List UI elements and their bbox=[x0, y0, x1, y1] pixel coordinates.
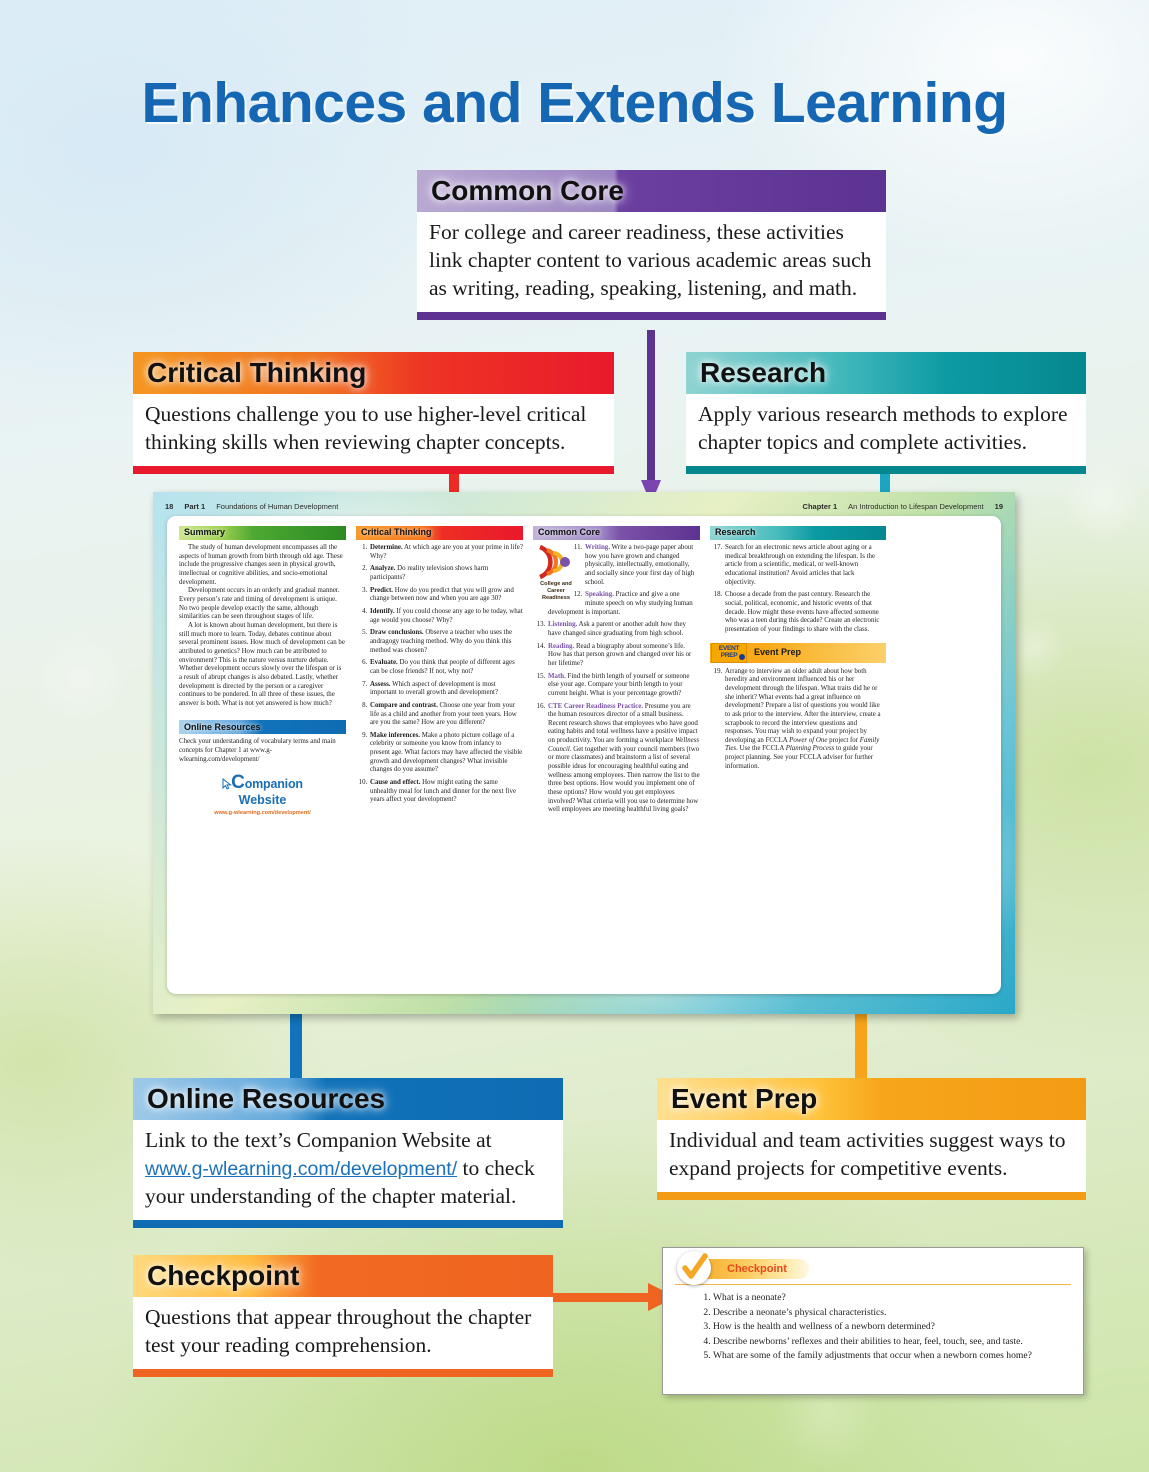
callout-checkpoint-label: Checkpoint bbox=[133, 1260, 313, 1292]
college-career-readiness-badge: College and Career Readiness bbox=[533, 545, 579, 601]
critical-thinking-item: Draw conclusions. Observe a teacher who … bbox=[369, 629, 523, 655]
column-common-core: Common Core College and Career Readiness… bbox=[533, 526, 700, 984]
callout-online-resources-label: Online Resources bbox=[133, 1083, 399, 1115]
column-research: Research Search for an electronic news a… bbox=[710, 526, 886, 984]
right-chapter-label: Chapter 1 bbox=[803, 502, 838, 511]
common-core-item-term: Writing. bbox=[585, 544, 610, 551]
callout-checkpoint-body: Questions that appear throughout the cha… bbox=[133, 1297, 553, 1369]
checkpoint-sample-item: Describe newborns’ reflexes and their ab… bbox=[713, 1335, 1071, 1349]
checkpoint-sample-item: How is the health and wellness of a newb… bbox=[713, 1320, 1071, 1334]
section-header-common-core-label: Common Core bbox=[533, 527, 605, 538]
checkpoint-sample-box: Checkpoint What is a neonate?Describe a … bbox=[662, 1247, 1084, 1395]
event-prep-logo-icon: EVENT PREP bbox=[711, 643, 747, 663]
companion-website-link[interactable]: www.g-wlearning.com/development/ bbox=[145, 1158, 457, 1180]
callout-common-core: Common Core For college and career readi… bbox=[417, 170, 886, 320]
common-core-item-text: Presume you are the human resources dire… bbox=[548, 703, 700, 814]
section-header-summary: Summary bbox=[179, 526, 346, 540]
critical-thinking-item-lead: Cause and effect. bbox=[370, 779, 420, 786]
callout-event-prep-header: Event Prep bbox=[657, 1078, 1086, 1120]
common-core-item-term: Math. bbox=[548, 673, 566, 680]
event-prep-question-list: Arrange to interview an older adult abou… bbox=[710, 668, 886, 772]
callout-online-resources-text-1: Link to the text’s Companion Website at bbox=[145, 1128, 492, 1152]
critical-thinking-item-lead: Evaluate. bbox=[370, 659, 398, 666]
section-header-critical-thinking: Critical Thinking bbox=[356, 526, 523, 540]
left-page-number: 18 bbox=[165, 502, 173, 511]
callout-checkpoint: Checkpoint Questions that appear through… bbox=[133, 1255, 553, 1377]
common-core-item-term: Reading. bbox=[548, 643, 574, 650]
section-header-event-prep: EVENT PREP Event Prep bbox=[710, 643, 886, 663]
checkpoint-sample-item: What are some of the family adjustments … bbox=[713, 1349, 1071, 1363]
callout-checkpoint-footer-bar bbox=[133, 1369, 553, 1377]
callout-event-prep: Event Prep Individual and team activitie… bbox=[657, 1078, 1086, 1200]
spread-paper: Summary The study of human development e… bbox=[167, 516, 1001, 994]
checkmark-icon bbox=[677, 1251, 711, 1285]
companion-website-line1: Companion bbox=[179, 771, 346, 795]
callout-common-core-footer-bar bbox=[417, 312, 886, 320]
checkpoint-sample-item: What is a neonate? bbox=[713, 1291, 1071, 1305]
checkpoint-sample-label: Checkpoint bbox=[727, 1263, 787, 1275]
cursor-arrow-icon bbox=[222, 778, 233, 795]
critical-thinking-item-text: Which aspect of development is most impo… bbox=[370, 681, 498, 697]
common-core-item: Math. Find the birth length of yourself … bbox=[547, 673, 700, 699]
research-item: Search for an electronic news article ab… bbox=[724, 544, 886, 587]
section-header-summary-label: Summary bbox=[179, 527, 230, 538]
section-header-research-label: Research bbox=[710, 527, 761, 538]
callout-common-core-label: Common Core bbox=[417, 175, 638, 207]
critical-thinking-item-lead: Make inferences. bbox=[370, 732, 420, 739]
critical-thinking-item: Assess. Which aspect of development is m… bbox=[369, 681, 523, 698]
companion-website-word: ompanion bbox=[245, 777, 303, 791]
callout-event-prep-body: Individual and team activities suggest w… bbox=[657, 1120, 1086, 1192]
callout-critical-thinking: Critical Thinking Questions challenge yo… bbox=[133, 352, 614, 474]
summary-paragraph: A lot is known about human development, … bbox=[179, 622, 346, 709]
critical-thinking-item: Analyze. Do reality television shows har… bbox=[369, 565, 523, 582]
arrow-checkpoint bbox=[548, 1283, 678, 1311]
callout-critical-thinking-footer-bar bbox=[133, 466, 614, 474]
event-prep-logo-line2: PREP bbox=[721, 653, 738, 659]
checkpoint-sample-divider bbox=[675, 1284, 1071, 1285]
section-header-common-core: Common Core bbox=[533, 526, 700, 540]
companion-website-initial: C bbox=[231, 772, 245, 793]
critical-thinking-item: Predict. How do you predict that you wil… bbox=[369, 587, 523, 604]
critical-thinking-item: Evaluate. Do you think that people of di… bbox=[369, 659, 523, 676]
checkpoint-sample-question-list: What is a neonate?Describe a neonate’s p… bbox=[675, 1291, 1071, 1363]
callout-checkpoint-header: Checkpoint bbox=[133, 1255, 553, 1297]
common-core-item: Reading. Read a biography about someone’… bbox=[547, 643, 700, 669]
column-summary: Summary The study of human development e… bbox=[179, 526, 346, 984]
critical-thinking-item-lead: Determine. bbox=[370, 544, 403, 551]
arrow-common-core bbox=[641, 330, 661, 510]
critical-thinking-item-lead: Analyze. bbox=[370, 565, 395, 572]
callout-research-body: Apply various research methods to explor… bbox=[686, 394, 1086, 466]
critical-thinking-item-lead: Compare and contrast. bbox=[370, 702, 438, 709]
right-page-number: 19 bbox=[995, 502, 1003, 511]
section-header-research: Research bbox=[710, 526, 886, 540]
research-question-list: Search for an electronic news article ab… bbox=[710, 544, 886, 635]
event-prep-item: Arrange to interview an older adult abou… bbox=[724, 668, 886, 772]
section-header-event-prep-label: Event Prep bbox=[754, 647, 801, 658]
ccr-caption: College and Career Readiness bbox=[533, 581, 579, 601]
callout-critical-thinking-header: Critical Thinking bbox=[133, 352, 614, 394]
callout-common-core-header: Common Core bbox=[417, 170, 886, 212]
common-core-item-term: Speaking. bbox=[585, 591, 614, 598]
ccr-rings-icon bbox=[534, 545, 578, 579]
callout-research-footer-bar bbox=[686, 466, 1086, 474]
callout-online-resources-footer-bar bbox=[133, 1220, 563, 1228]
critical-thinking-item: Make inferences. Make a photo picture co… bbox=[369, 732, 523, 775]
common-core-item: Listening. Ask a parent or another adult… bbox=[547, 621, 700, 638]
critical-thinking-item: Identify. If you could choose any age to… bbox=[369, 608, 523, 625]
common-core-item: CTE Career Readiness Practice. Presume y… bbox=[547, 703, 700, 816]
callout-research-header: Research bbox=[686, 352, 1086, 394]
checkpoint-sample-item: Describe a neonate’s physical characteri… bbox=[713, 1306, 1071, 1320]
critical-thinking-item-lead: Identify. bbox=[370, 608, 395, 615]
critical-thinking-item-lead: Assess. bbox=[370, 681, 390, 688]
section-header-critical-thinking-label: Critical Thinking bbox=[356, 527, 437, 538]
column-critical-thinking: Critical Thinking Determine. At which ag… bbox=[356, 526, 523, 984]
spread-running-heads: 18 Part 1 Foundations of Human Developme… bbox=[165, 498, 1003, 514]
callout-critical-thinking-body: Questions challenge you to use higher-le… bbox=[133, 394, 614, 466]
callout-critical-thinking-label: Critical Thinking bbox=[133, 357, 380, 389]
callout-online-resources-body: Link to the text’s Companion Website at … bbox=[133, 1120, 563, 1220]
companion-website-logo: Companion Website www.g-wlearning.com/de… bbox=[179, 771, 346, 817]
critical-thinking-item: Cause and effect. How might eating the s… bbox=[369, 779, 523, 805]
section-header-online-resources-label: Online Resources bbox=[179, 722, 266, 733]
right-chapter-title: An Introduction to Lifespan Development bbox=[848, 502, 984, 511]
callout-event-prep-footer-bar bbox=[657, 1192, 1086, 1200]
critical-thinking-item-lead: Predict. bbox=[370, 587, 393, 594]
common-core-item-text: Find the birth length of yourself or som… bbox=[548, 673, 689, 697]
companion-website-line2: Website bbox=[179, 793, 346, 809]
checkpoint-sample-header: Checkpoint bbox=[691, 1256, 1071, 1282]
page-title: Enhances and Extends Learning bbox=[0, 70, 1149, 136]
critical-thinking-item: Compare and contrast. Choose one year fr… bbox=[369, 702, 523, 728]
section-header-online-resources: Online Resources bbox=[179, 720, 346, 734]
callout-research: Research Apply various research methods … bbox=[686, 352, 1086, 474]
left-part-label: Part 1 bbox=[184, 502, 205, 511]
online-resources-text: Check your understanding of vocabulary t… bbox=[179, 738, 346, 764]
callout-online-resources-header: Online Resources bbox=[133, 1078, 563, 1120]
summary-paragraph: The study of human development encompass… bbox=[179, 544, 346, 587]
event-prep-logo-dot bbox=[739, 654, 745, 660]
callout-common-core-body: For college and career readiness, these … bbox=[417, 212, 886, 312]
callout-event-prep-label: Event Prep bbox=[657, 1083, 831, 1115]
callout-online-resources: Online Resources Link to the text’s Comp… bbox=[133, 1078, 563, 1228]
common-core-item-term: CTE Career Readiness Practice. bbox=[548, 703, 643, 710]
critical-thinking-question-list: Determine. At which age are you at your … bbox=[356, 544, 523, 805]
companion-website-url: www.g-wlearning.com/development/ bbox=[179, 810, 346, 817]
research-item: Choose a decade from the past century. R… bbox=[724, 591, 886, 634]
critical-thinking-item-lead: Draw conclusions. bbox=[370, 629, 424, 636]
common-core-item-term: Listening. bbox=[548, 621, 577, 628]
callout-research-label: Research bbox=[686, 357, 840, 389]
critical-thinking-item: Determine. At which age are you at your … bbox=[369, 544, 523, 561]
left-part-title: Foundations of Human Development bbox=[216, 502, 338, 511]
textbook-spread: 18 Part 1 Foundations of Human Developme… bbox=[153, 492, 1015, 1014]
summary-paragraph: Development occurs in an orderly and gra… bbox=[179, 587, 346, 622]
